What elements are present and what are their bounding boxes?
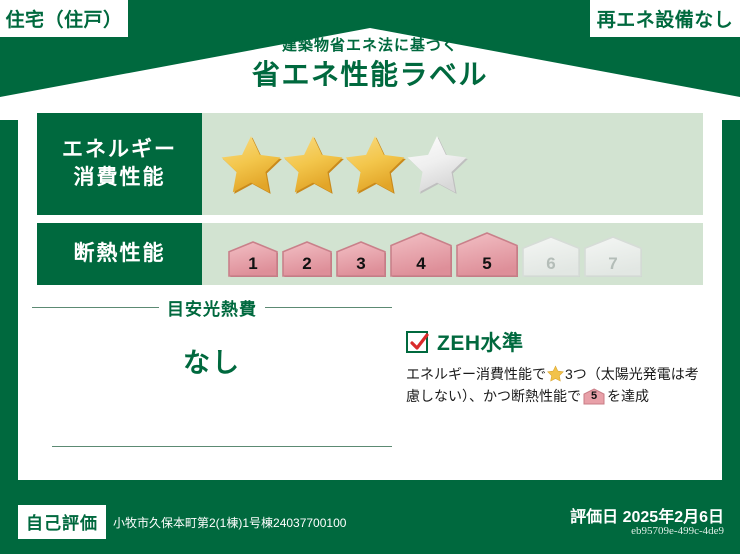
zeh-heading: ZEH水準 [406, 327, 706, 357]
house-icon-active: 1 [228, 241, 278, 277]
zeh-desc-star-count: 3つ [565, 366, 587, 382]
zeh-section: ZEH水準 エネルギー消費性能で3つ（太陽光発電は考慮しない）、かつ断熱性能で5… [406, 327, 706, 407]
star-icon-filled [344, 133, 406, 195]
house-icon-inactive: 6 [522, 236, 580, 277]
house-level-number: 2 [282, 254, 332, 274]
zeh-desc-part1: エネルギー消費性能で [406, 366, 546, 382]
house-level-number: 5 [456, 254, 518, 274]
row-insulation-label: 断熱性能 [37, 223, 202, 285]
zeh-title: ZEH水準 [437, 327, 524, 357]
row-insulation-label-line1: 断熱性能 [74, 240, 166, 268]
cost-rule-bottom [52, 446, 392, 447]
row-insulation-performance: 断熱性能 1234567 [37, 223, 703, 285]
row-energy-performance: エネルギー 消費性能 [37, 113, 703, 215]
star-icon-filled [220, 133, 282, 195]
row-energy-label: エネルギー 消費性能 [37, 113, 202, 215]
star-icon-filled [282, 133, 344, 195]
lower-section: 目安光熱費 なし ZEH水準 エネルギー消費性能で3つ（太陽光発電は考慮しない）… [18, 289, 722, 480]
star-rating [220, 133, 468, 195]
cost-value: なし [32, 341, 392, 380]
zeh-description: エネルギー消費性能で3つ（太陽光発電は考慮しない）、かつ断熱性能で5を達成 [406, 364, 706, 407]
house-icon-inline: 5 [583, 388, 605, 405]
badge-renewable-energy: 再エネ設備なし [590, 0, 740, 37]
cost-rule-left [32, 307, 159, 308]
badge-building-type: 住宅（住戸） [0, 0, 128, 37]
label-card: エネルギー 消費性能 断熱性能 1234567 目安光熱費 なし [18, 97, 722, 480]
house-level-number: 6 [522, 254, 580, 274]
insulation-level-scale: 1234567 [228, 232, 642, 277]
evaluation-id: eb95709e-499c-4de9 [631, 525, 724, 537]
property-address: 小牧市久保本町第2(1棟)1号棟24037700100 [113, 514, 346, 531]
cost-heading-text: 目安光熱費 [167, 295, 257, 320]
house-icon-active: 4 [390, 232, 452, 277]
star-icon-empty [406, 133, 468, 195]
row-energy-label-line1: エネルギー [62, 136, 177, 164]
cost-rule-right [265, 307, 392, 308]
evaluation-date: 評価日 2025年2月6日 [570, 503, 724, 527]
row-energy-label-line2: 消費性能 [74, 164, 166, 192]
house-icon-active: 5 [456, 232, 518, 277]
star-icon-inline [547, 365, 564, 382]
evaluation-date-label: 評価日 [570, 509, 618, 526]
row-energy-value [202, 113, 703, 215]
evaluation-date-value: 2025年2月6日 [623, 509, 724, 526]
self-evaluation-badge: 自己評価 [18, 505, 106, 539]
cost-heading: 目安光熱費 [32, 295, 392, 320]
house-level-number: 3 [336, 254, 386, 274]
house-level-number: 1 [228, 254, 278, 274]
house-icon-inline-level: 5 [583, 388, 605, 405]
footer: 自己評価 小牧市久保本町第2(1棟)1号棟24037700100 評価日 202… [0, 492, 740, 554]
house-icon-active: 3 [336, 241, 386, 277]
house-icon-inactive: 7 [584, 236, 642, 277]
house-level-number: 4 [390, 254, 452, 274]
house-icon-active: 2 [282, 241, 332, 277]
row-insulation-value: 1234567 [202, 223, 703, 285]
zeh-desc-part3: を達成 [607, 388, 649, 404]
house-level-number: 7 [584, 254, 642, 274]
check-icon [406, 331, 428, 353]
